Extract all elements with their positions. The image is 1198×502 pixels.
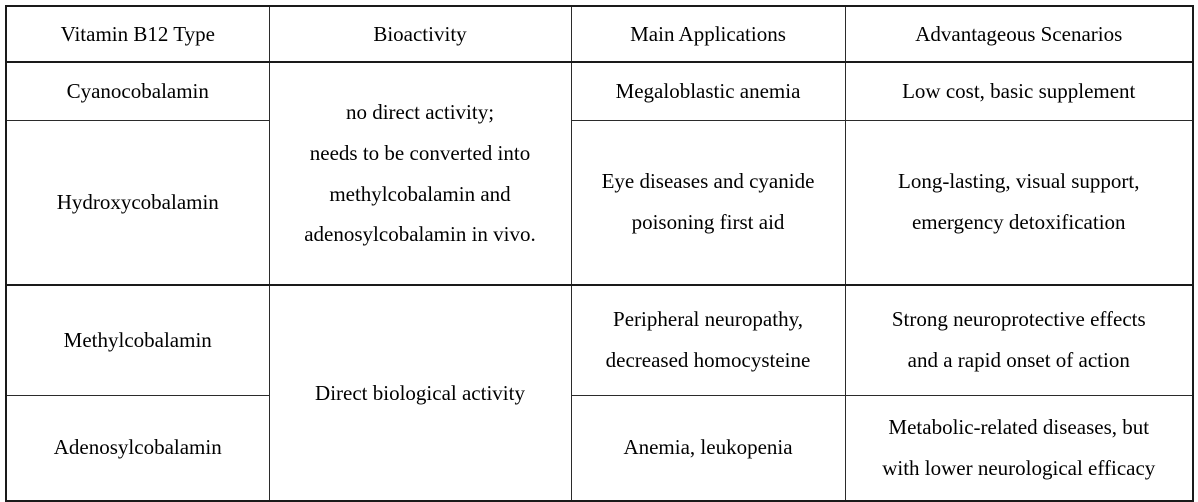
cell-bioactivity-indirect: no direct activity; needs to be converte… <box>269 62 571 285</box>
column-header-bioactivity: Bioactivity <box>269 6 571 62</box>
table-row: Adenosylcobalamin Anemia, leukopenia Met… <box>6 395 1193 501</box>
cell-type-cyanocobalamin: Cyanocobalamin <box>6 62 269 120</box>
cell-scenarios-adenosylcobalamin: Metabolic-related diseases, but with low… <box>845 395 1193 501</box>
column-header-scenarios: Advantageous Scenarios <box>845 6 1193 62</box>
cell-line: Strong neuroprotective effects <box>854 299 1185 340</box>
header-row: Vitamin B12 Type Bioactivity Main Applic… <box>6 6 1193 62</box>
cell-line: Peripheral neuropathy, <box>580 299 837 340</box>
bioactivity-line: methylcobalamin and <box>278 174 563 215</box>
cell-scenarios-hydroxycobalamin: Long-lasting, visual support, emergency … <box>845 120 1193 285</box>
cell-type-adenosylcobalamin: Adenosylcobalamin <box>6 395 269 501</box>
cell-line: Metabolic-related diseases, but <box>854 407 1185 448</box>
cell-applications-hydroxycobalamin: Eye diseases and cyanide poisoning first… <box>571 120 845 285</box>
table-body: Cyanocobalamin no direct activity; needs… <box>6 62 1193 501</box>
table-row: Methylcobalamin Direct biological activi… <box>6 285 1193 395</box>
cell-line: decreased homocysteine <box>580 340 837 381</box>
cell-type-methylcobalamin: Methylcobalamin <box>6 285 269 395</box>
cell-applications-adenosylcobalamin: Anemia, leukopenia <box>571 395 845 501</box>
cell-applications-cyanocobalamin: Megaloblastic anemia <box>571 62 845 120</box>
cell-line: poisoning first aid <box>580 202 837 243</box>
cell-scenarios-methylcobalamin: Strong neuroprotective effects and a rap… <box>845 285 1193 395</box>
cell-line: Megaloblastic anemia <box>580 71 837 112</box>
cell-scenarios-cyanocobalamin: Low cost, basic supplement <box>845 62 1193 120</box>
bioactivity-line: no direct activity; <box>278 92 563 133</box>
cell-applications-methylcobalamin: Peripheral neuropathy, decreased homocys… <box>571 285 845 395</box>
cell-bioactivity-direct: Direct biological activity <box>269 285 571 501</box>
cell-line: Low cost, basic supplement <box>854 71 1185 112</box>
table-row: Hydroxycobalamin Eye diseases and cyanid… <box>6 120 1193 285</box>
table-row: Cyanocobalamin no direct activity; needs… <box>6 62 1193 120</box>
vitamin-b12-comparison-table: Vitamin B12 Type Bioactivity Main Applic… <box>5 5 1194 502</box>
cell-line: Long-lasting, visual support, <box>854 161 1185 202</box>
table-sheet: Vitamin B12 Type Bioactivity Main Applic… <box>0 0 1198 501</box>
cell-line: and a rapid onset of action <box>854 340 1185 381</box>
cell-line: Anemia, leukopenia <box>580 427 837 468</box>
column-header-applications: Main Applications <box>571 6 845 62</box>
bioactivity-line: Direct biological activity <box>278 373 563 414</box>
cell-line: emergency detoxification <box>854 202 1185 243</box>
column-header-type: Vitamin B12 Type <box>6 6 269 62</box>
cell-line: with lower neurological efficacy <box>854 448 1185 489</box>
cell-type-hydroxycobalamin: Hydroxycobalamin <box>6 120 269 285</box>
table-header: Vitamin B12 Type Bioactivity Main Applic… <box>6 6 1193 62</box>
bioactivity-line: needs to be converted into <box>278 133 563 174</box>
bioactivity-line: adenosylcobalamin in vivo. <box>278 214 563 255</box>
cell-line: Eye diseases and cyanide <box>580 161 837 202</box>
